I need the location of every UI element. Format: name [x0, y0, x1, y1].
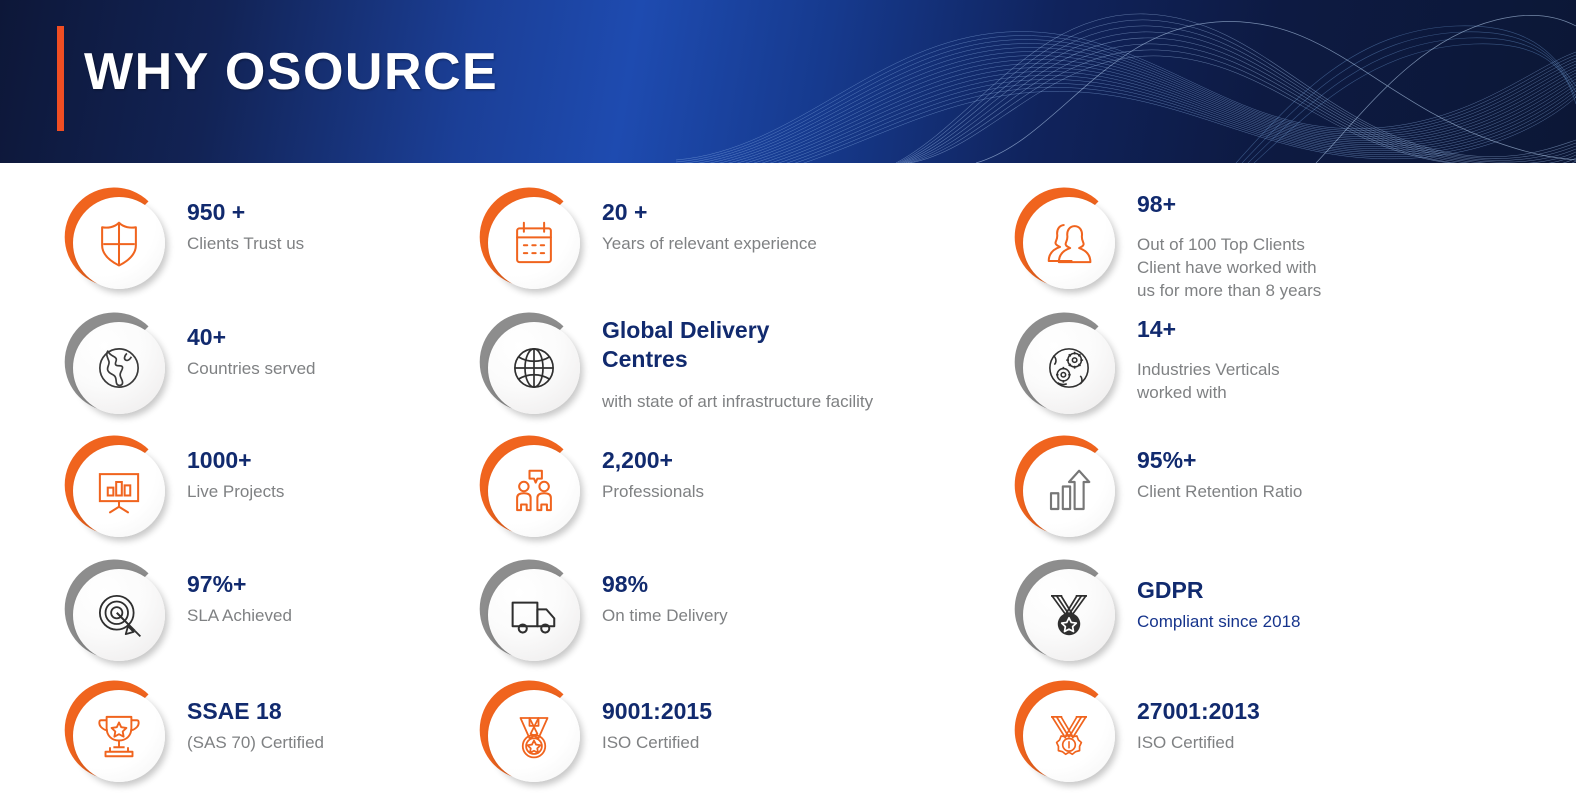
stats-grid: 950 + Clients Trust us 20 +: [0, 163, 1576, 802]
stat-text: 2,200+ Professionals: [588, 431, 704, 504]
wave-decoration-icon: [676, 0, 1576, 163]
stat-label: ISO Certified: [1137, 732, 1260, 755]
stat-value: 14+: [1137, 316, 1280, 343]
stat-text: 9001:2015 ISO Certified: [588, 676, 712, 755]
trophy-star-icon: [92, 709, 146, 763]
stat-label: (SAS 70) Certified: [187, 732, 324, 755]
stat-text: SSAE 18 (SAS 70) Certified: [173, 676, 324, 755]
stat-badge: [1005, 676, 1123, 794]
stat-text: Global Delivery Centres with state of ar…: [588, 308, 873, 414]
stat-label: Years of relevant experience: [602, 233, 817, 256]
shield-icon: [92, 216, 146, 270]
icon-disc: [73, 322, 165, 414]
delivery-truck-icon: [507, 588, 561, 642]
stat-badge: [1005, 555, 1123, 673]
stat-text: 97%+ SLA Achieved: [173, 555, 292, 628]
stat-text: 20 + Years of relevant experience: [588, 183, 817, 256]
icon-disc: [1023, 690, 1115, 782]
stat-label: ISO Certified: [602, 732, 712, 755]
calendar-icon: [507, 216, 561, 270]
stat-item[interactable]: 95%+ Client Retention Ratio: [1005, 431, 1302, 549]
icon-disc: [488, 569, 580, 661]
icon-disc: [1023, 569, 1115, 661]
stat-badge: [470, 183, 588, 301]
stat-badge: [1005, 431, 1123, 549]
stat-item[interactable]: 20 + Years of relevant experience: [470, 183, 817, 301]
stat-value: 1000+: [187, 447, 284, 474]
stat-badge: [55, 183, 173, 301]
stat-item[interactable]: 98% On time Delivery: [470, 555, 728, 673]
icon-disc: [73, 197, 165, 289]
stat-badge: [55, 431, 173, 549]
stat-label: Out of 100 Top Clients Client have worke…: [1137, 234, 1321, 303]
stat-label: Compliant since 2018: [1137, 611, 1300, 634]
medal-star-icon: [1042, 588, 1096, 642]
stat-text: 98+ Out of 100 Top Clients Client have w…: [1123, 183, 1321, 303]
stat-value: 95%+: [1137, 447, 1302, 474]
stat-item[interactable]: 97%+ SLA Achieved: [55, 555, 292, 673]
icon-disc: [73, 445, 165, 537]
stat-value: 20 +: [602, 199, 817, 226]
stat-label: Clients Trust us: [187, 233, 304, 256]
stat-badge: [1005, 308, 1123, 426]
presentation-chart-icon: [92, 464, 146, 518]
stat-label: On time Delivery: [602, 605, 728, 628]
people-chat-icon: [507, 464, 561, 518]
stat-item[interactable]: 40+ Countries served: [55, 308, 316, 426]
stat-item[interactable]: 1000+ Live Projects: [55, 431, 284, 549]
stat-value: 98+: [1137, 191, 1321, 218]
icon-disc: [488, 445, 580, 537]
stat-badge: [55, 676, 173, 794]
medal-ribbon-star-icon: [507, 709, 561, 763]
stat-label: Live Projects: [187, 481, 284, 504]
stat-label: Countries served: [187, 358, 316, 381]
stat-value: 40+: [187, 324, 316, 351]
growth-arrow-icon: [1042, 464, 1096, 518]
stat-value: 9001:2015: [602, 698, 712, 725]
stat-text: 98% On time Delivery: [588, 555, 728, 628]
stat-badge: [470, 555, 588, 673]
icon-disc: [488, 197, 580, 289]
stat-value: GDPR: [1137, 577, 1300, 604]
target-arrow-icon: [92, 588, 146, 642]
stat-value: 950 +: [187, 199, 304, 226]
stat-item[interactable]: 14+ Industries Verticals worked with: [1005, 308, 1280, 426]
page-title: WHY OSOURCE: [84, 42, 498, 102]
icon-disc: [488, 322, 580, 414]
stat-value: 97%+: [187, 571, 292, 598]
stat-text: 40+ Countries served: [173, 308, 316, 381]
stat-text: 27001:2013 ISO Certified: [1123, 676, 1260, 755]
stat-value: Global Delivery Centres: [602, 316, 787, 375]
stat-text: 14+ Industries Verticals worked with: [1123, 308, 1280, 405]
icon-disc: [488, 690, 580, 782]
globe-americas-icon: [92, 341, 146, 395]
icon-disc: [1023, 197, 1115, 289]
stat-item[interactable]: SSAE 18 (SAS 70) Certified: [55, 676, 324, 794]
stat-text: GDPR Compliant since 2018: [1123, 555, 1300, 634]
stat-value: 27001:2013: [1137, 698, 1260, 725]
icon-disc: [73, 569, 165, 661]
stat-text: 1000+ Live Projects: [173, 431, 284, 504]
stat-value: SSAE 18: [187, 698, 324, 725]
stat-label: Industries Verticals worked with: [1137, 359, 1280, 405]
title-accent-bar: [57, 26, 64, 131]
stat-item[interactable]: 950 + Clients Trust us: [55, 183, 304, 301]
stat-label: SLA Achieved: [187, 605, 292, 628]
stat-label: Professionals: [602, 481, 704, 504]
stat-badge: [55, 555, 173, 673]
stat-item[interactable]: 98+ Out of 100 Top Clients Client have w…: [1005, 183, 1321, 303]
stat-badge: [1005, 183, 1123, 301]
stat-value: 2,200+: [602, 447, 704, 474]
globe-grid-icon: [507, 341, 561, 395]
stat-item[interactable]: Global Delivery Centres with state of ar…: [470, 308, 873, 426]
people-pair-icon: [1042, 216, 1096, 270]
icon-disc: [73, 690, 165, 782]
stat-item[interactable]: 2,200+ Professionals: [470, 431, 704, 549]
stat-text: 950 + Clients Trust us: [173, 183, 304, 256]
stat-label: with state of art infrastructure facilit…: [602, 391, 873, 414]
stat-label: Client Retention Ratio: [1137, 481, 1302, 504]
stat-item[interactable]: 27001:2013 ISO Certified: [1005, 676, 1260, 794]
page-header: WHY OSOURCE: [0, 0, 1576, 163]
stat-badge: [470, 676, 588, 794]
stat-badge: [470, 431, 588, 549]
medal-ribbon-one-icon: [1042, 709, 1096, 763]
globe-gears-icon: [1042, 341, 1096, 395]
icon-disc: [1023, 322, 1115, 414]
stat-text: 95%+ Client Retention Ratio: [1123, 431, 1302, 504]
stat-item[interactable]: 9001:2015 ISO Certified: [470, 676, 712, 794]
stat-value: 98%: [602, 571, 728, 598]
stat-item[interactable]: GDPR Compliant since 2018: [1005, 555, 1300, 673]
stat-badge: [55, 308, 173, 426]
icon-disc: [1023, 445, 1115, 537]
stat-badge: [470, 308, 588, 426]
